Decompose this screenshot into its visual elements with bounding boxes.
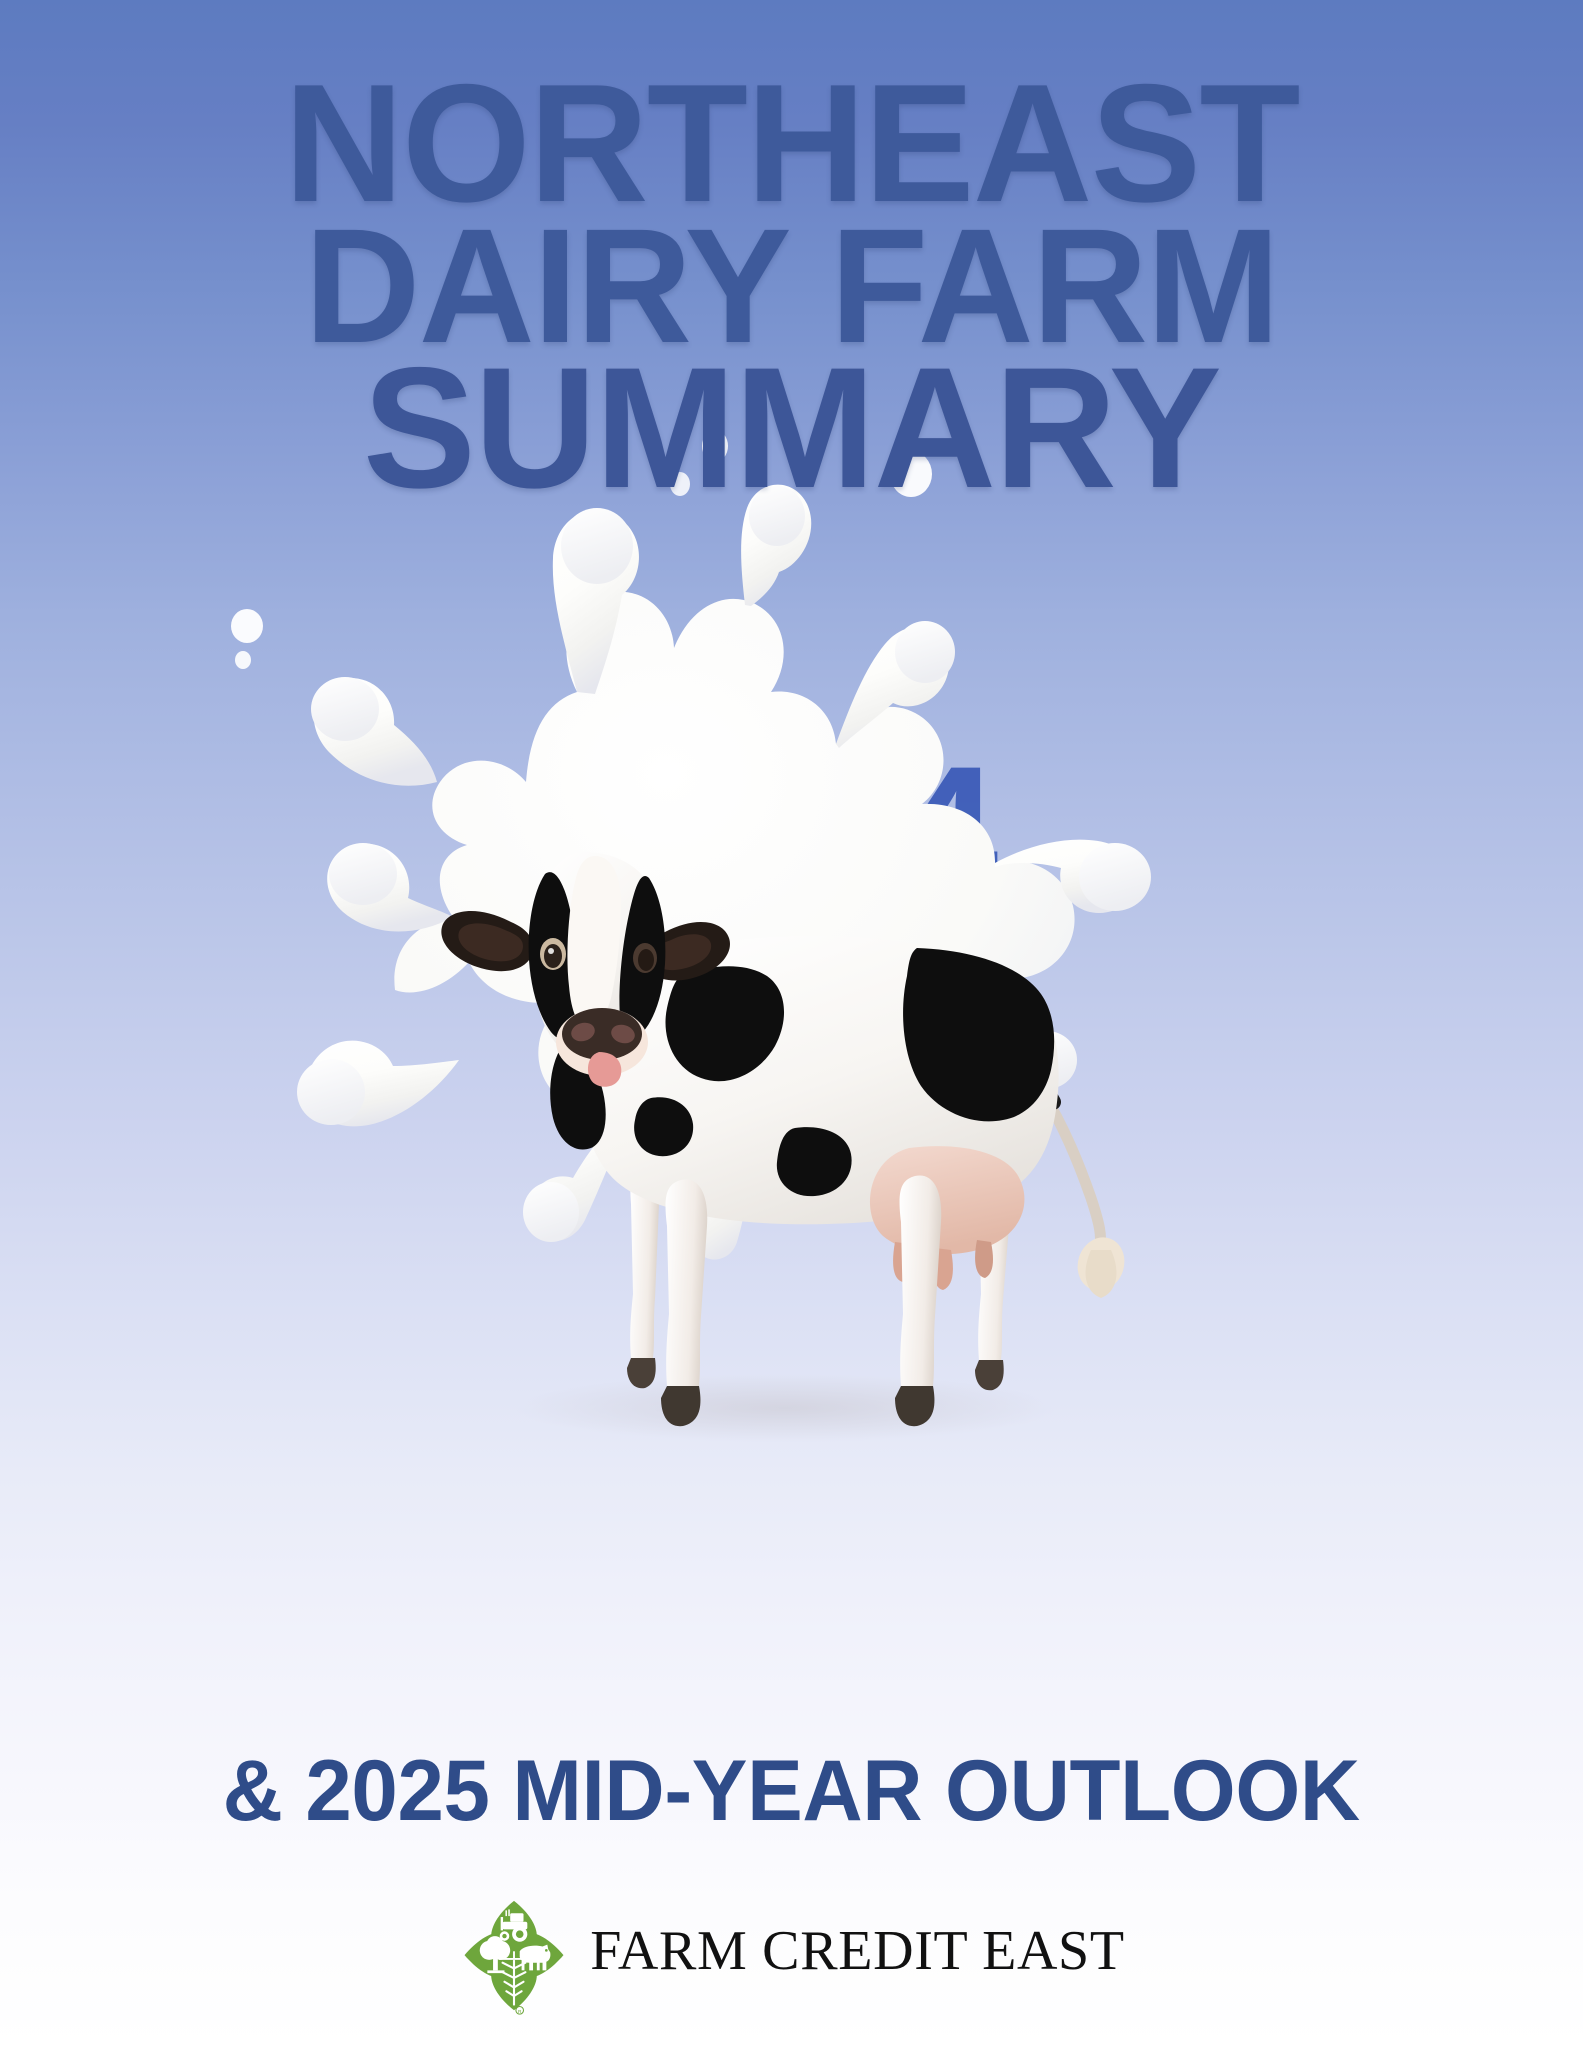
report-cover: NORTHEAST DAIRY FARM SUMMARY 2024	[0, 0, 1583, 2048]
milk-splash-illustration	[185, 430, 1185, 1260]
holstein-cow-illustration	[355, 830, 1235, 1450]
cover-year: 2024	[0, 738, 1583, 926]
title-line-summary: SUMMARY	[12, 355, 1571, 502]
farm-credit-east-logo[interactable]: R FARM CREDIT EAST	[0, 1898, 1583, 2016]
logo-wordmark: FARM CREDIT EAST	[590, 1923, 1125, 1979]
title-line-northeast: NORTHEAST	[12, 72, 1571, 216]
year-text: 2024	[587, 727, 996, 937]
cover-subtitle: & 2025 MID-YEAR OUTLOOK	[0, 1742, 1583, 1841]
cover-title: NORTHEAST DAIRY FARM SUMMARY	[0, 72, 1583, 502]
svg-text:R: R	[518, 2009, 522, 2015]
cloverleaf-logo-icon: R	[458, 1898, 570, 2016]
subtitle-text: & 2025 MID-YEAR OUTLOOK	[223, 1742, 1360, 1841]
title-line-dairy-farm: DAIRY FARM	[12, 216, 1571, 355]
